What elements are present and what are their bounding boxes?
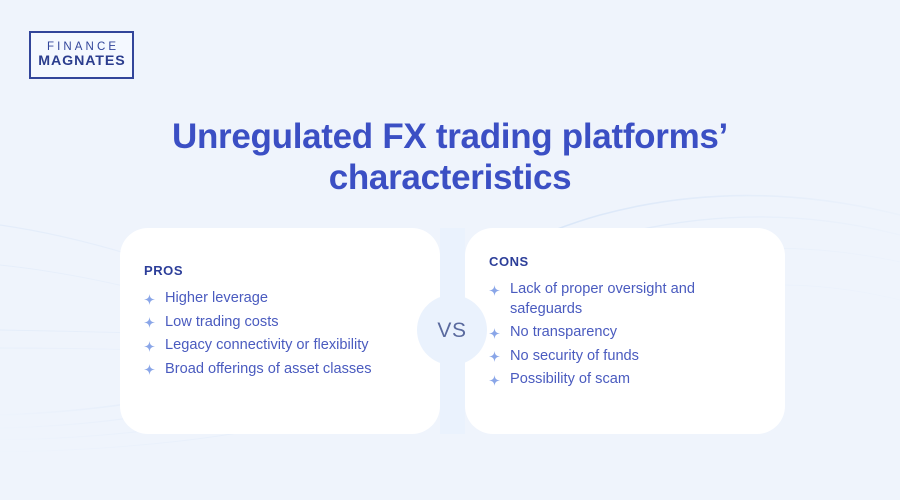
list-item: Possibility of scam bbox=[489, 370, 760, 390]
list-item-label: No transparency bbox=[510, 324, 617, 340]
list-item: No transparency bbox=[489, 323, 760, 343]
sparkle-star-icon bbox=[489, 351, 500, 362]
list-item: No security of funds bbox=[489, 347, 760, 367]
list-item: Lack of proper oversight and safeguards bbox=[489, 280, 760, 319]
sparkle-star-icon bbox=[144, 317, 155, 328]
list-item: Low trading costs bbox=[144, 313, 415, 333]
pros-list: Higher leverage Low trading costs Legacy… bbox=[144, 289, 440, 379]
sparkle-star-icon bbox=[144, 364, 155, 375]
page-title: Unregulated FX trading platforms’ charac… bbox=[0, 116, 900, 198]
cons-heading: CONS bbox=[489, 255, 785, 268]
sparkle-star-icon bbox=[144, 341, 155, 352]
brand-logo: FINANCE MAGNATES bbox=[29, 31, 134, 79]
page-title-line-2: characteristics bbox=[0, 157, 900, 198]
list-item: Legacy connectivity or flexibility bbox=[144, 336, 415, 356]
logo-text-finance: FINANCE bbox=[44, 42, 119, 54]
pros-heading: PROS bbox=[144, 264, 440, 277]
list-item-label: Legacy connectivity or flexibility bbox=[165, 337, 369, 353]
vs-badge: VS bbox=[417, 295, 487, 365]
pros-card: PROS Higher leverage Low trading costs bbox=[120, 228, 440, 434]
list-item: Broad offerings of asset classes bbox=[144, 360, 415, 380]
list-item-label: Lack of proper oversight and safeguards bbox=[510, 281, 695, 317]
comparison-section: PROS Higher leverage Low trading costs bbox=[0, 228, 900, 434]
infographic-canvas: FINANCE MAGNATES Unregulated FX trading … bbox=[0, 0, 900, 500]
list-item-label: Higher leverage bbox=[165, 290, 268, 306]
sparkle-star-icon bbox=[144, 294, 155, 305]
list-item-label: No security of funds bbox=[510, 348, 639, 364]
logo-text-magnates: MAGNATES bbox=[37, 54, 125, 68]
list-item-label: Possibility of scam bbox=[510, 371, 630, 387]
sparkle-star-icon bbox=[489, 375, 500, 386]
sparkle-star-icon bbox=[489, 285, 500, 296]
vs-label: VS bbox=[437, 320, 466, 341]
list-item-label: Low trading costs bbox=[165, 314, 279, 330]
list-item-label: Broad offerings of asset classes bbox=[165, 361, 372, 377]
cons-list: Lack of proper oversight and safeguards … bbox=[489, 280, 785, 390]
cons-card: CONS Lack of proper oversight and safegu… bbox=[465, 228, 785, 434]
list-item: Higher leverage bbox=[144, 289, 415, 309]
page-title-line-1: Unregulated FX trading platforms’ bbox=[0, 116, 900, 157]
sparkle-star-icon bbox=[489, 328, 500, 339]
